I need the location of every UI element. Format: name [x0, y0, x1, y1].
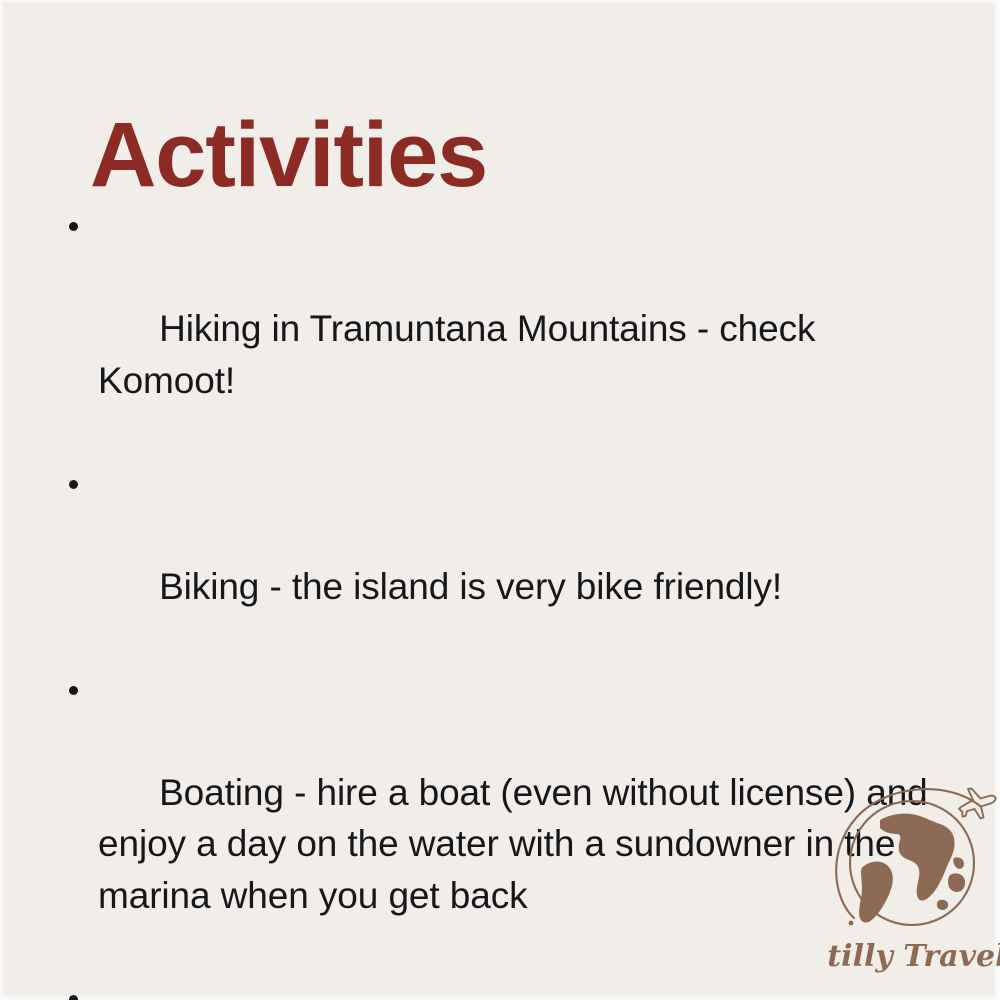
- list-item: Biking - the island is very bike friendl…: [60, 458, 945, 664]
- brand-logo: Atilly Travels: [828, 778, 1000, 978]
- page-title: Activities: [90, 109, 487, 201]
- edge-highlight-top: [0, 0, 1000, 3]
- logo-artwork: Atilly Travels: [828, 778, 1000, 978]
- bullet-dot-icon: [69, 222, 78, 231]
- bullet-dot-icon: [69, 995, 78, 1000]
- brand-wordmark: Atilly Travels: [828, 939, 1000, 974]
- activities-list: Hiking in Tramuntana Mountains - check K…: [60, 200, 945, 1000]
- slide-canvas: Activities Hiking in Tramuntana Mountain…: [0, 0, 1000, 1000]
- globe-continents: [859, 814, 965, 923]
- edge-highlight-left: [0, 0, 4, 1000]
- list-item: Visit Old Sóller - explore the quaint st…: [60, 973, 945, 1000]
- list-item-text: Boating - hire a boat (even without lice…: [98, 772, 938, 916]
- list-item-text: Biking - the island is very bike friendl…: [159, 566, 782, 607]
- bullet-dot-icon: [69, 480, 78, 489]
- list-item-text: Hiking in Tramuntana Mountains - check K…: [98, 308, 826, 401]
- list-item: Hiking in Tramuntana Mountains - check K…: [60, 200, 945, 458]
- bullet-dot-icon: [69, 686, 78, 695]
- list-item: Boating - hire a boat (even without lice…: [60, 664, 945, 973]
- orbit-end-dot: [849, 921, 854, 926]
